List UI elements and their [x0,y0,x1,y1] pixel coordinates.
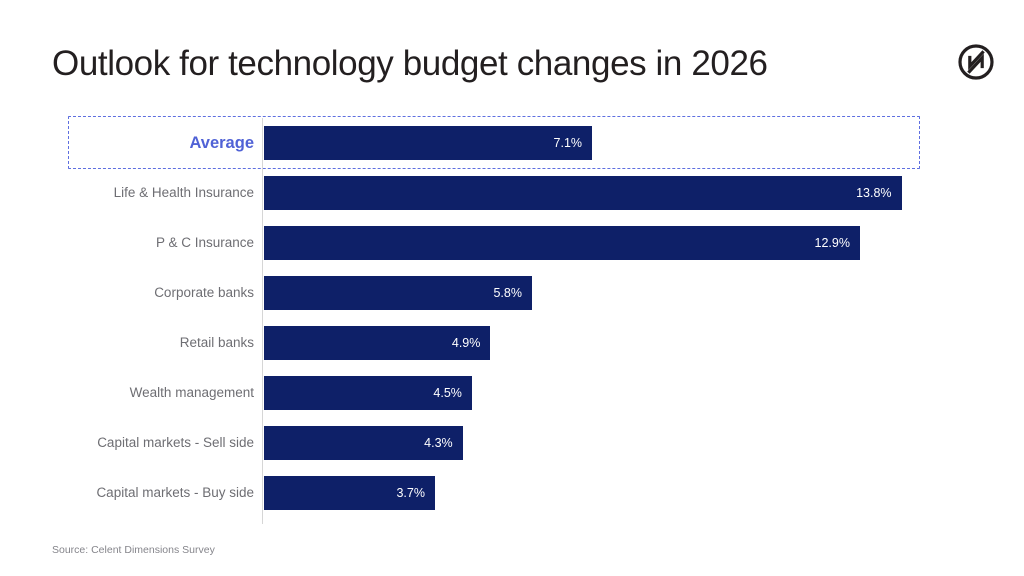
bar-value-label: 4.5% [433,376,462,410]
bar-row: Wealth management4.5% [0,376,1024,410]
bar: 3.7% [264,476,435,510]
bar: 5.8% [264,276,532,310]
bar: 4.5% [264,376,472,410]
bar-row: Average7.1% [0,126,1024,160]
bar: 12.9% [264,226,860,260]
bar-row: Capital markets - Sell side4.3% [0,426,1024,460]
bar-value-label: 4.9% [452,326,481,360]
bar-value-label: 4.3% [424,426,453,460]
category-label: Life & Health Insurance [114,176,254,210]
bar-row: Life & Health Insurance13.8% [0,176,1024,210]
bar-row: P & C Insurance12.9% [0,226,1024,260]
category-label: P & C Insurance [156,226,254,260]
bar-row: Capital markets - Buy side3.7% [0,476,1024,510]
celent-logo-icon [956,42,996,82]
bar-value-label: 13.8% [856,176,891,210]
category-label: Capital markets - Buy side [96,476,254,510]
bar-value-label: 3.7% [396,476,425,510]
category-label: Retail banks [180,326,254,360]
bar: 4.3% [264,426,463,460]
category-label: Average [189,126,254,160]
page-title: Outlook for technology budget changes in… [52,44,768,84]
bar: 7.1% [264,126,592,160]
bar-chart: Outlook for technology budget changes in… [0,0,1024,576]
bar: 4.9% [264,326,490,360]
bar-row: Corporate banks5.8% [0,276,1024,310]
source-note: Source: Celent Dimensions Survey [52,544,215,556]
bar-value-label: 7.1% [554,126,583,160]
bar: 13.8% [264,176,902,210]
bar-value-label: 12.9% [815,226,850,260]
bar-value-label: 5.8% [493,276,522,310]
category-label: Wealth management [130,376,254,410]
category-label: Capital markets - Sell side [97,426,254,460]
bar-row: Retail banks4.9% [0,326,1024,360]
category-label: Corporate banks [154,276,254,310]
